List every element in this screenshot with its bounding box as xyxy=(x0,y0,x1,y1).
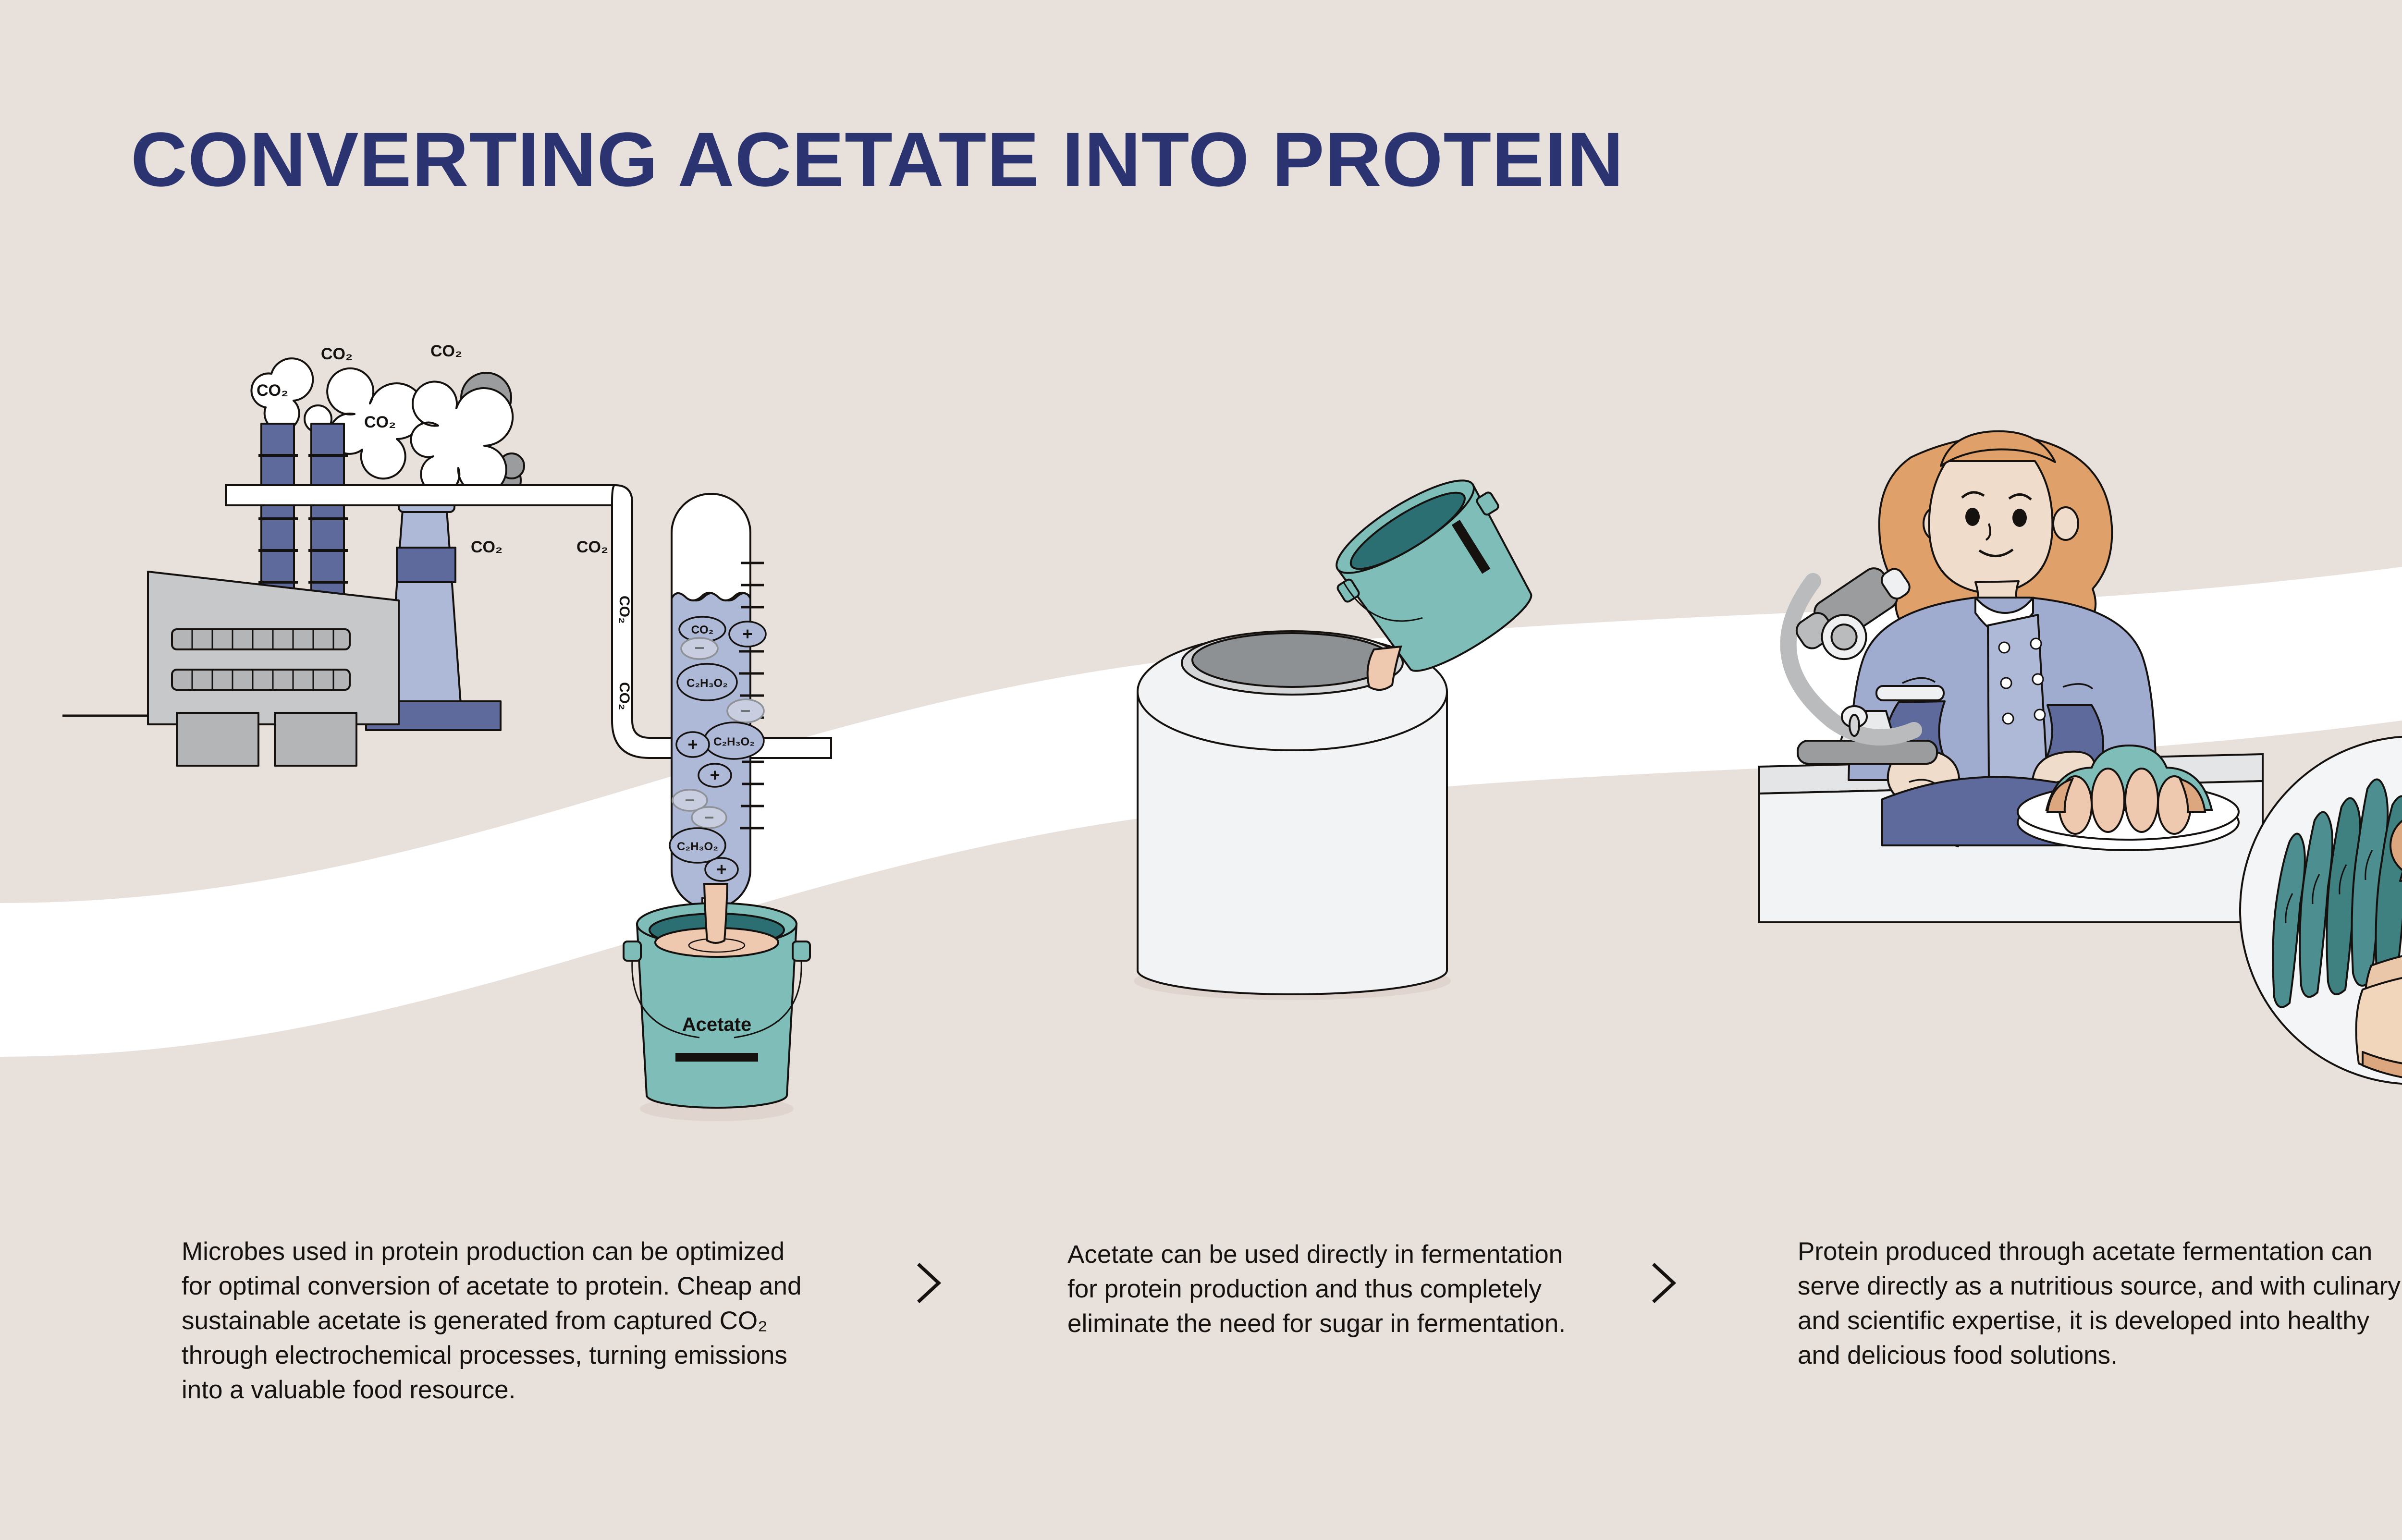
ion-positive-label: + xyxy=(716,859,726,879)
bubble-label-acetate: C₂H₃O₂ xyxy=(677,840,718,853)
page-title: CONVERTING ACETATE INTO PROTEIN xyxy=(131,115,1624,204)
factory-building xyxy=(148,572,399,766)
electrolyzer-column: CO₂ C₂H₃O₂ C₂H₃O₂ C₂H₃O₂ + + + + − − − − xyxy=(620,490,821,951)
step-caption: Acetate can be used directly in fermenta… xyxy=(1067,1237,1577,1341)
co2-label: CO₂ xyxy=(364,413,396,431)
chevron-right-icon xyxy=(913,1261,946,1305)
bucket-label: Acetate xyxy=(682,1014,752,1035)
step-caption: Microbes used in protein production can … xyxy=(182,1234,821,1407)
ion-negative-label: − xyxy=(740,701,750,721)
bubble-label-acetate: C₂H₃O₂ xyxy=(713,735,755,748)
chimney xyxy=(261,424,294,606)
acetate-bucket: Acetate xyxy=(610,884,821,1124)
fermentation-tank xyxy=(1071,461,1532,1018)
ion-positive-label: + xyxy=(710,765,720,785)
ion-positive-label: + xyxy=(687,734,698,754)
step-caption: Protein produced through acetate ferment… xyxy=(1798,1234,2402,1373)
plated-dish-on-counter xyxy=(1979,721,2277,865)
chevron-right-icon xyxy=(1648,1261,1681,1305)
bubble-label-co2: CO₂ xyxy=(691,623,714,636)
ion-negative-label: − xyxy=(694,638,704,658)
co2-label: CO₂ xyxy=(257,381,288,400)
co2-label: CO₂ xyxy=(430,342,462,360)
microscope-illustration xyxy=(1777,552,1979,769)
ion-negative-label: − xyxy=(685,790,695,810)
bucket-stripe xyxy=(675,1053,758,1062)
co2-label: CO₂ xyxy=(576,538,608,556)
co2-label: CO₂ xyxy=(471,538,502,556)
ion-negative-label: − xyxy=(704,807,714,827)
bubble-label-acetate: C₂H₃O₂ xyxy=(686,677,728,690)
co2-label: CO₂ xyxy=(321,345,353,363)
captions-row: Microbes used in protein production can … xyxy=(0,1234,2402,1503)
ion-positive-label: + xyxy=(742,624,752,644)
infographic-stage: CONVERTING ACETATE INTO PROTEIN xyxy=(0,0,2402,1540)
